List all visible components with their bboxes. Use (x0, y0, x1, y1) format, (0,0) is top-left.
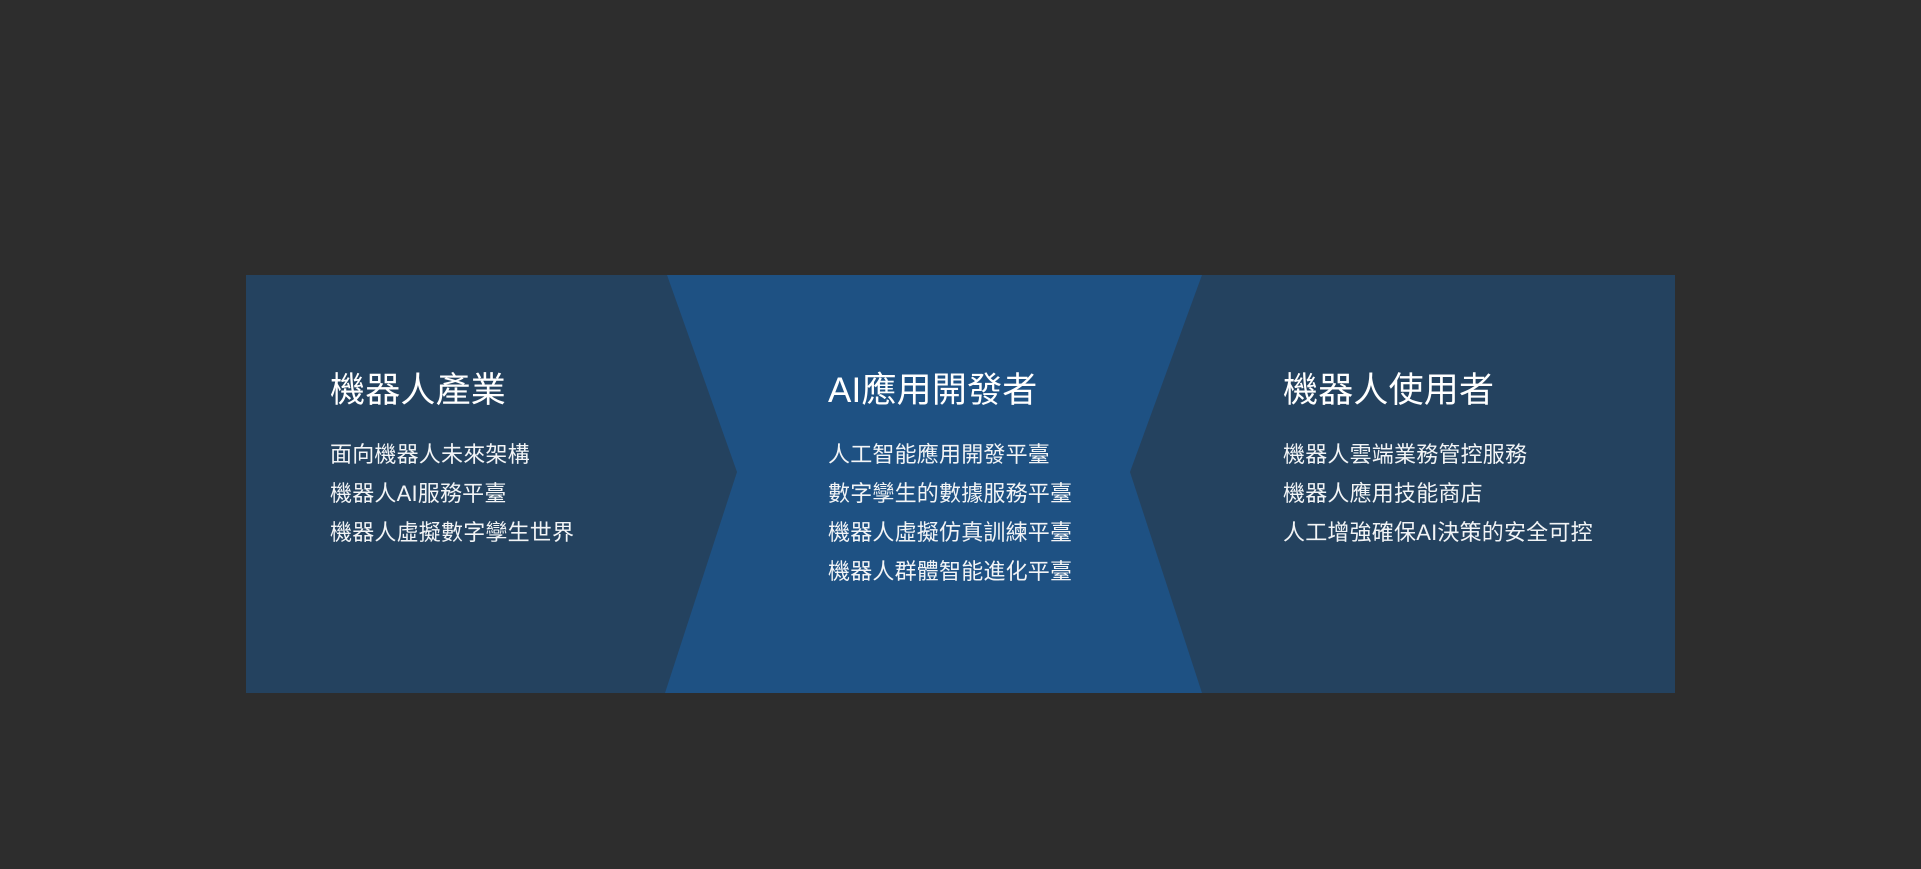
list-item: 人工增強確保AI決策的安全可控 (1283, 513, 1593, 552)
list-item: 機器人應用技能商店 (1283, 474, 1593, 513)
list-item: 機器人AI服務平臺 (330, 474, 574, 513)
column-heading-robot-industry: 機器人產業 (330, 371, 506, 411)
list-item: 人工智能應用開發平臺 (828, 435, 1072, 474)
list-item: 機器人群體智能進化平臺 (828, 552, 1072, 591)
column-heading-robot-user: 機器人使用者 (1283, 371, 1494, 411)
column-items-robot-user: 機器人雲端業務管控服務 機器人應用技能商店 人工增強確保AI決策的安全可控 (1283, 435, 1593, 552)
stage-column-robot-user: 機器人使用者 機器人雲端業務管控服務 機器人應用技能商店 人工增強確保AI決策的… (1283, 275, 1633, 693)
column-heading-ai-app-developer: AI應用開發者 (828, 371, 1037, 411)
stage-column-ai-app-developer: AI應用開發者 人工智能應用開發平臺 數字孿生的數據服務平臺 機器人虛擬仿真訓練… (828, 275, 1188, 693)
list-item: 機器人雲端業務管控服務 (1283, 435, 1593, 474)
list-item: 面向機器人未來架構 (330, 435, 574, 474)
list-item: 數字孿生的數據服務平臺 (828, 474, 1072, 513)
list-item: 機器人虛擬仿真訓練平臺 (828, 513, 1072, 552)
column-items-robot-industry: 面向機器人未來架構 機器人AI服務平臺 機器人虛擬數字孿生世界 (330, 435, 574, 552)
list-item: 機器人虛擬數字孿生世界 (330, 513, 574, 552)
stage-column-robot-industry: 機器人產業 面向機器人未來架構 機器人AI服務平臺 機器人虛擬數字孿生世界 (330, 275, 660, 693)
chevron-diagram-band: 機器人產業 面向機器人未來架構 機器人AI服務平臺 機器人虛擬數字孿生世界 AI… (246, 275, 1675, 693)
column-items-ai-app-developer: 人工智能應用開發平臺 數字孿生的數據服務平臺 機器人虛擬仿真訓練平臺 機器人群體… (828, 435, 1072, 591)
